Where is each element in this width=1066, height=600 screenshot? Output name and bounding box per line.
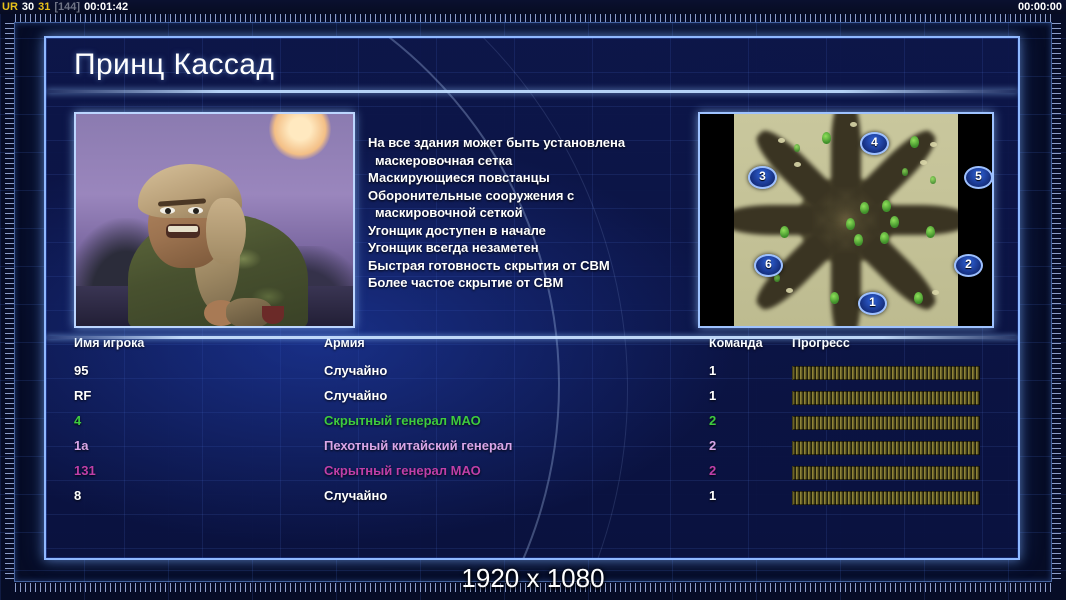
map-tree <box>926 226 935 238</box>
map-start-position-5[interactable]: 5 <box>964 166 993 189</box>
description-line: Угонщик доступен в начале <box>368 222 668 240</box>
cell-player-name: 4 <box>74 413 81 428</box>
map-tree <box>890 216 899 228</box>
cell-army: Случайно <box>324 363 387 378</box>
description-line: маскеровочная сетка <box>368 152 668 170</box>
cell-player-name: 8 <box>74 488 81 503</box>
table-row[interactable]: 1aПехотный китайский генерал2 <box>74 435 990 460</box>
map-tree <box>914 292 923 304</box>
description-line: Быстрая готовность скрытия от СВМ <box>368 257 668 275</box>
map-start-position-4[interactable]: 4 <box>860 132 889 155</box>
map-rock <box>786 288 793 293</box>
cell-team: 2 <box>709 463 716 478</box>
map-rock <box>920 160 927 165</box>
portrait-pupil-left <box>165 208 171 214</box>
map-tree <box>882 200 891 212</box>
status-value-1: 30 <box>22 1 34 13</box>
progress-bar <box>792 416 980 430</box>
table-row[interactable]: RFСлучайно1 <box>74 385 990 410</box>
map-tree <box>794 144 800 152</box>
map-tree <box>846 218 855 230</box>
map-canvas <box>734 114 958 326</box>
table-row[interactable]: 4Скрытный генерал МАО2 <box>74 410 990 435</box>
map-tree <box>930 176 936 184</box>
cell-player-name: RF <box>74 388 91 403</box>
game-lobby-screen: UR3031[144]00:01:42 00:00:00 Принц Касса… <box>0 0 1066 600</box>
map-preview[interactable]: 435621 <box>698 112 994 328</box>
description-line: На все здания может быть установлена <box>368 134 668 152</box>
description-line: Более частое скрытие от СВМ <box>368 274 668 292</box>
map-tree <box>910 136 919 148</box>
portrait-teeth <box>168 226 198 232</box>
progress-bar <box>792 491 980 505</box>
table-header-divider <box>46 336 1018 339</box>
general-portrait <box>74 112 355 328</box>
map-start-position-1[interactable]: 1 <box>858 292 887 315</box>
cell-army: Пехотный китайский генерал <box>324 438 512 453</box>
ruler-left <box>5 23 14 581</box>
status-bar-left: UR3031[144]00:01:42 <box>2 0 132 14</box>
cell-team: 2 <box>709 413 716 428</box>
status-bracket: [144] <box>54 1 80 13</box>
ruler-top <box>15 13 1051 22</box>
page-title: Принц Кассад <box>74 48 274 82</box>
general-description: На все здания может быть установлена мас… <box>368 134 668 292</box>
map-tree <box>822 132 831 144</box>
description-line: Маскирующиеся повстанцы <box>368 169 668 187</box>
cell-army: Случайно <box>324 488 387 503</box>
player-table: Имя игрока Армия Команда Прогресс 95Случ… <box>74 336 990 532</box>
map-rock <box>850 122 857 127</box>
progress-bar <box>792 466 980 480</box>
cell-player-name: 1a <box>74 438 88 453</box>
map-tree <box>854 234 863 246</box>
cell-team: 1 <box>709 488 716 503</box>
map-tree <box>780 226 789 238</box>
cell-player-name: 95 <box>74 363 88 378</box>
table-row[interactable]: 8Случайно1 <box>74 485 990 510</box>
portrait-cup <box>262 306 284 324</box>
map-tree <box>830 292 839 304</box>
map-start-position-3[interactable]: 3 <box>748 166 777 189</box>
cell-team: 2 <box>709 438 716 453</box>
portrait-headwrap-tail <box>206 198 246 264</box>
status-value-2: 31 <box>38 1 50 13</box>
cell-army: Скрытный генерал МАО <box>324 413 481 428</box>
map-start-position-6[interactable]: 6 <box>754 254 783 277</box>
table-row[interactable]: 95Случайно1 <box>74 360 990 385</box>
map-rock <box>794 162 801 167</box>
description-line: маскировочной сеткой <box>368 204 668 222</box>
map-tree <box>880 232 889 244</box>
main-panel: Принц Кассад <box>44 36 1020 560</box>
map-tree <box>860 202 869 214</box>
table-body: 95Случайно1RFСлучайно14Скрытный генерал … <box>74 360 990 510</box>
status-timer-right: 00:00:00 <box>1018 0 1062 14</box>
table-header-row: Имя игрока Армия Команда Прогресс <box>74 336 990 360</box>
title-divider <box>46 90 1018 93</box>
map-rock <box>932 290 939 295</box>
map-start-position-2[interactable]: 2 <box>954 254 983 277</box>
table-row[interactable]: 131Скрытный генерал МАО2 <box>74 460 990 485</box>
cell-team: 1 <box>709 363 716 378</box>
cell-player-name: 131 <box>74 463 96 478</box>
progress-bar <box>792 366 980 380</box>
title-row: Принц Кассад <box>46 38 1018 94</box>
map-rock <box>930 142 937 147</box>
progress-bar <box>792 391 980 405</box>
ruler-right <box>1052 23 1061 581</box>
map-tree <box>902 168 908 176</box>
status-tag: UR <box>2 1 18 13</box>
status-timer-left: 00:01:42 <box>84 1 128 13</box>
description-line: Угонщик всегда незаметен <box>368 239 668 257</box>
status-bar: UR3031[144]00:01:42 00:00:00 <box>0 0 1066 14</box>
hero-row: На все здания может быть установлена мас… <box>74 112 990 324</box>
cell-army: Скрытный генерал МАО <box>324 463 481 478</box>
cell-team: 1 <box>709 388 716 403</box>
progress-bar <box>792 441 980 455</box>
description-line: Оборонительные сооружения с <box>368 187 668 205</box>
map-rock <box>778 138 785 143</box>
cell-army: Случайно <box>324 388 387 403</box>
resolution-overlay: 1920 x 1080 <box>0 563 1066 594</box>
portrait-pupil-right <box>193 208 199 214</box>
